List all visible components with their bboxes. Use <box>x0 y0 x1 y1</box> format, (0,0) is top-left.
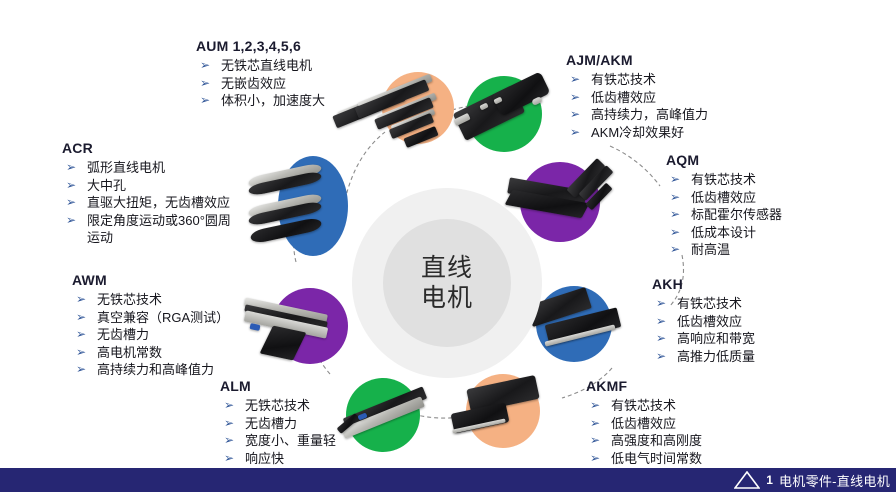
bullet-text: 耐高温 <box>691 242 730 257</box>
list-item: ➢高推力低质量 <box>652 348 755 366</box>
list-item: ➢无铁芯直线电机 <box>196 57 325 75</box>
footer-bar: 1 电机零件-直线电机 <box>0 468 896 492</box>
bullet-arrow-icon: ➢ <box>656 348 666 366</box>
node-image-ajm-akm <box>466 76 542 152</box>
list-item: ➢高响应和带宽 <box>652 330 755 348</box>
bullet-arrow-icon: ➢ <box>76 309 86 327</box>
bullet-arrow-icon: ➢ <box>66 194 76 212</box>
bullet-arrow-icon: ➢ <box>570 89 580 107</box>
bullet-text: 低电气时间常数 <box>611 451 702 466</box>
bullet-text: 低齿槽效应 <box>677 314 742 329</box>
bullet-arrow-icon: ➢ <box>570 71 580 89</box>
list-item: ➢体积小，加速度大 <box>196 92 325 110</box>
hub-center: 直线 电机 <box>383 219 511 347</box>
bullet-arrow-icon: ➢ <box>200 75 210 93</box>
bullet-arrow-icon: ➢ <box>66 177 76 195</box>
bullet-text: 高电机常数 <box>97 345 162 360</box>
bullet-text: 低齿槽效应 <box>611 416 676 431</box>
bullet-arrow-icon: ➢ <box>76 291 86 309</box>
bullet-text: 大中孔 <box>87 178 126 193</box>
bullet-arrow-icon: ➢ <box>66 159 76 177</box>
list-item: ➢无齿槽力 <box>220 415 336 433</box>
bullet-list-akh: ➢有铁芯技术 ➢低齿槽效应 ➢高响应和带宽 ➢高推力低质量 <box>652 295 755 365</box>
bullet-text: 高响应和带宽 <box>677 331 755 346</box>
bullet-text: 限定角度运动或360°圆周 <box>87 213 231 228</box>
bullet-text: 直驱大扭矩，无齿槽效应 <box>87 195 230 210</box>
block-title-aum: AUM 1,2,3,4,5,6 <box>196 38 325 54</box>
bullet-text: 宽度小、重量轻 <box>245 433 336 448</box>
node-image-awm <box>272 288 348 364</box>
bullet-arrow-icon: ➢ <box>670 171 680 189</box>
bullet-arrow-icon: ➢ <box>76 361 86 379</box>
bullet-list-acr: ➢弧形直线电机 ➢大中孔 ➢直驱大扭矩，无齿槽效应 ➢限定角度运动或360°圆周… <box>62 159 231 247</box>
bullet-text: 无铁芯技术 <box>97 292 162 307</box>
list-item: ➢真空兼容（RGA测试） <box>72 309 229 327</box>
bullet-text: 无齿槽力 <box>245 416 297 431</box>
node-image-acr <box>278 156 348 256</box>
bullet-text: 标配霍尔传感器 <box>691 207 782 222</box>
bullet-arrow-icon: ➢ <box>670 206 680 224</box>
bullet-arrow-icon: ➢ <box>200 92 210 110</box>
list-item: ➢低电气时间常数 <box>586 450 702 468</box>
bullet-arrow-icon: ➢ <box>76 344 86 362</box>
block-title-aqm: AQM <box>666 152 782 168</box>
list-item: ➢高电机常数 <box>72 344 229 362</box>
block-title-alm: ALM <box>220 378 336 394</box>
bullet-text: 有铁芯技术 <box>611 398 676 413</box>
bullet-arrow-icon: ➢ <box>590 397 600 415</box>
hub-label-line1: 直线 <box>421 253 473 283</box>
bullet-text: 有铁芯技术 <box>691 172 756 187</box>
node-image-alm <box>346 378 420 452</box>
bullet-text: 弧形直线电机 <box>87 160 165 175</box>
slide-canvas: 直线 电机 AUM 1,2,3,4,5,6 ➢无铁芯直线电机 ➢无嵌齿效应 ➢体… <box>0 0 896 492</box>
bullet-arrow-icon: ➢ <box>670 241 680 259</box>
bullet-text: 有铁芯技术 <box>591 72 656 87</box>
list-item: ➢高持续力和高峰值力 <box>72 361 229 379</box>
bullet-text: 无铁芯直线电机 <box>221 58 312 73</box>
list-item: ➢高持续力，高峰值力 <box>566 106 708 124</box>
node-image-akmf <box>466 374 540 448</box>
list-item: ➢无嵌齿效应 <box>196 75 325 93</box>
bullet-text: 高强度和高刚度 <box>611 433 702 448</box>
bullet-text: 运动 <box>87 230 113 245</box>
node-image-akh <box>536 286 612 362</box>
bullet-arrow-icon: ➢ <box>590 415 600 433</box>
block-title-acr: ACR <box>62 140 231 156</box>
bullet-list-akmf: ➢有铁芯技术 ➢低齿槽效应 ➢高强度和高刚度 ➢低电气时间常数 <box>586 397 702 467</box>
bullet-text: 有铁芯技术 <box>677 296 742 311</box>
text-block-ajm-akm: AJM/AKM ➢有铁芯技术 ➢低齿槽效应 ➢高持续力，高峰值力 ➢AKM冷却效… <box>566 52 708 141</box>
bullet-arrow-icon: ➢ <box>656 313 666 331</box>
bullet-arrow-icon: ➢ <box>670 224 680 242</box>
block-title-awm: AWM <box>72 272 229 288</box>
bullet-text: 高持续力，高峰值力 <box>591 107 708 122</box>
bullet-list-awm: ➢无铁芯技术 ➢真空兼容（RGA测试） ➢无齿槽力 ➢高电机常数 ➢高持续力和高… <box>72 291 229 379</box>
bullet-text: 低成本设计 <box>691 225 756 240</box>
text-block-aqm: AQM ➢有铁芯技术 ➢低齿槽效应 ➢标配霍尔传感器 ➢低成本设计 ➢耐高温 <box>666 152 782 259</box>
triangle-logo-icon <box>734 471 760 489</box>
text-block-akh: AKH ➢有铁芯技术 ➢低齿槽效应 ➢高响应和带宽 ➢高推力低质量 <box>652 276 755 365</box>
bullet-arrow-icon: ➢ <box>224 415 234 433</box>
footer-title: 电机零件-直线电机 <box>779 471 890 490</box>
bullet-arrow-icon: ➢ <box>224 397 234 415</box>
bullet-text: 响应快 <box>245 451 284 466</box>
text-block-acr: ACR ➢弧形直线电机 ➢大中孔 ➢直驱大扭矩，无齿槽效应 ➢限定角度运动或36… <box>62 140 231 247</box>
list-item: ➢低齿槽效应 <box>652 313 755 331</box>
bullet-arrow-icon: ➢ <box>590 450 600 468</box>
list-item: ➢有铁芯技术 <box>586 397 702 415</box>
text-block-aum: AUM 1,2,3,4,5,6 ➢无铁芯直线电机 ➢无嵌齿效应 ➢体积小，加速度… <box>196 38 325 110</box>
bullet-list-aqm: ➢有铁芯技术 ➢低齿槽效应 ➢标配霍尔传感器 ➢低成本设计 ➢耐高温 <box>666 171 782 259</box>
list-item: ➢标配霍尔传感器 <box>666 206 782 224</box>
bullet-arrow-icon: ➢ <box>570 106 580 124</box>
bullet-text: 高持续力和高峰值力 <box>97 362 214 377</box>
text-block-alm: ALM ➢无铁芯技术 ➢无齿槽力 ➢宽度小、重量轻 ➢响应快 <box>220 378 336 467</box>
list-item: ➢无铁芯技术 <box>220 397 336 415</box>
list-item: ➢无齿槽力 <box>72 326 229 344</box>
bullet-text: 高推力低质量 <box>677 349 755 364</box>
bullet-text: 无嵌齿效应 <box>221 76 286 91</box>
list-item: ➢耐高温 <box>666 241 782 259</box>
bullet-list-ajm-akm: ➢有铁芯技术 ➢低齿槽效应 ➢高持续力，高峰值力 ➢AKM冷却效果好 <box>566 71 708 141</box>
list-item: ➢高强度和高刚度 <box>586 432 702 450</box>
bullet-list-aum: ➢无铁芯直线电机 ➢无嵌齿效应 ➢体积小，加速度大 <box>196 57 325 110</box>
bullet-arrow-icon: ➢ <box>656 330 666 348</box>
bullet-text: 无齿槽力 <box>97 327 149 342</box>
block-title-akh: AKH <box>652 276 755 292</box>
bullet-arrow-icon: ➢ <box>224 450 234 468</box>
list-item: 运动 <box>62 229 231 247</box>
bullet-arrow-icon: ➢ <box>656 295 666 313</box>
hub-label-line2: 电机 <box>421 283 473 313</box>
bullet-text: 无铁芯技术 <box>245 398 310 413</box>
list-item: ➢无铁芯技术 <box>72 291 229 309</box>
list-item: ➢弧形直线电机 <box>62 159 231 177</box>
list-item: ➢低齿槽效应 <box>586 415 702 433</box>
bullet-text: 真空兼容（RGA测试） <box>97 310 229 325</box>
list-item: ➢大中孔 <box>62 177 231 195</box>
block-title-akmf: AKMF <box>586 378 702 394</box>
list-item: ➢有铁芯技术 <box>652 295 755 313</box>
bullet-text: 低齿槽效应 <box>691 190 756 205</box>
bullet-arrow-icon: ➢ <box>200 57 210 75</box>
footer-right-group: 1 电机零件-直线电机 <box>734 468 896 492</box>
text-block-akmf: AKMF ➢有铁芯技术 ➢低齿槽效应 ➢高强度和高刚度 ➢低电气时间常数 <box>586 378 702 467</box>
bullet-text: 体积小，加速度大 <box>221 93 325 108</box>
list-item: ➢低齿槽效应 <box>566 89 708 107</box>
list-item: ➢有铁芯技术 <box>566 71 708 89</box>
node-image-aum <box>382 72 454 144</box>
text-block-awm: AWM ➢无铁芯技术 ➢真空兼容（RGA测试） ➢无齿槽力 ➢高电机常数 ➢高持… <box>72 272 229 379</box>
list-item: ➢AKM冷却效果好 <box>566 124 708 142</box>
bullet-arrow-icon: ➢ <box>224 432 234 450</box>
list-item: ➢限定角度运动或360°圆周 <box>62 212 231 230</box>
bullet-list-alm: ➢无铁芯技术 ➢无齿槽力 ➢宽度小、重量轻 ➢响应快 <box>220 397 336 467</box>
bullet-arrow-icon: ➢ <box>66 212 76 230</box>
page-number: 1 <box>766 473 773 487</box>
list-item: ➢直驱大扭矩，无齿槽效应 <box>62 194 231 212</box>
list-item: ➢有铁芯技术 <box>666 171 782 189</box>
bullet-arrow-icon: ➢ <box>670 189 680 207</box>
bullet-text: AKM冷却效果好 <box>591 125 684 140</box>
bullet-arrow-icon: ➢ <box>590 432 600 450</box>
bullet-arrow-icon: ➢ <box>570 124 580 142</box>
block-title-ajm-akm: AJM/AKM <box>566 52 708 68</box>
bullet-text: 低齿槽效应 <box>591 90 656 105</box>
list-item: ➢低齿槽效应 <box>666 189 782 207</box>
bullet-arrow-icon: ➢ <box>76 326 86 344</box>
list-item: ➢宽度小、重量轻 <box>220 432 336 450</box>
list-item: ➢响应快 <box>220 450 336 468</box>
list-item: ➢低成本设计 <box>666 224 782 242</box>
node-image-aqm <box>520 162 600 242</box>
